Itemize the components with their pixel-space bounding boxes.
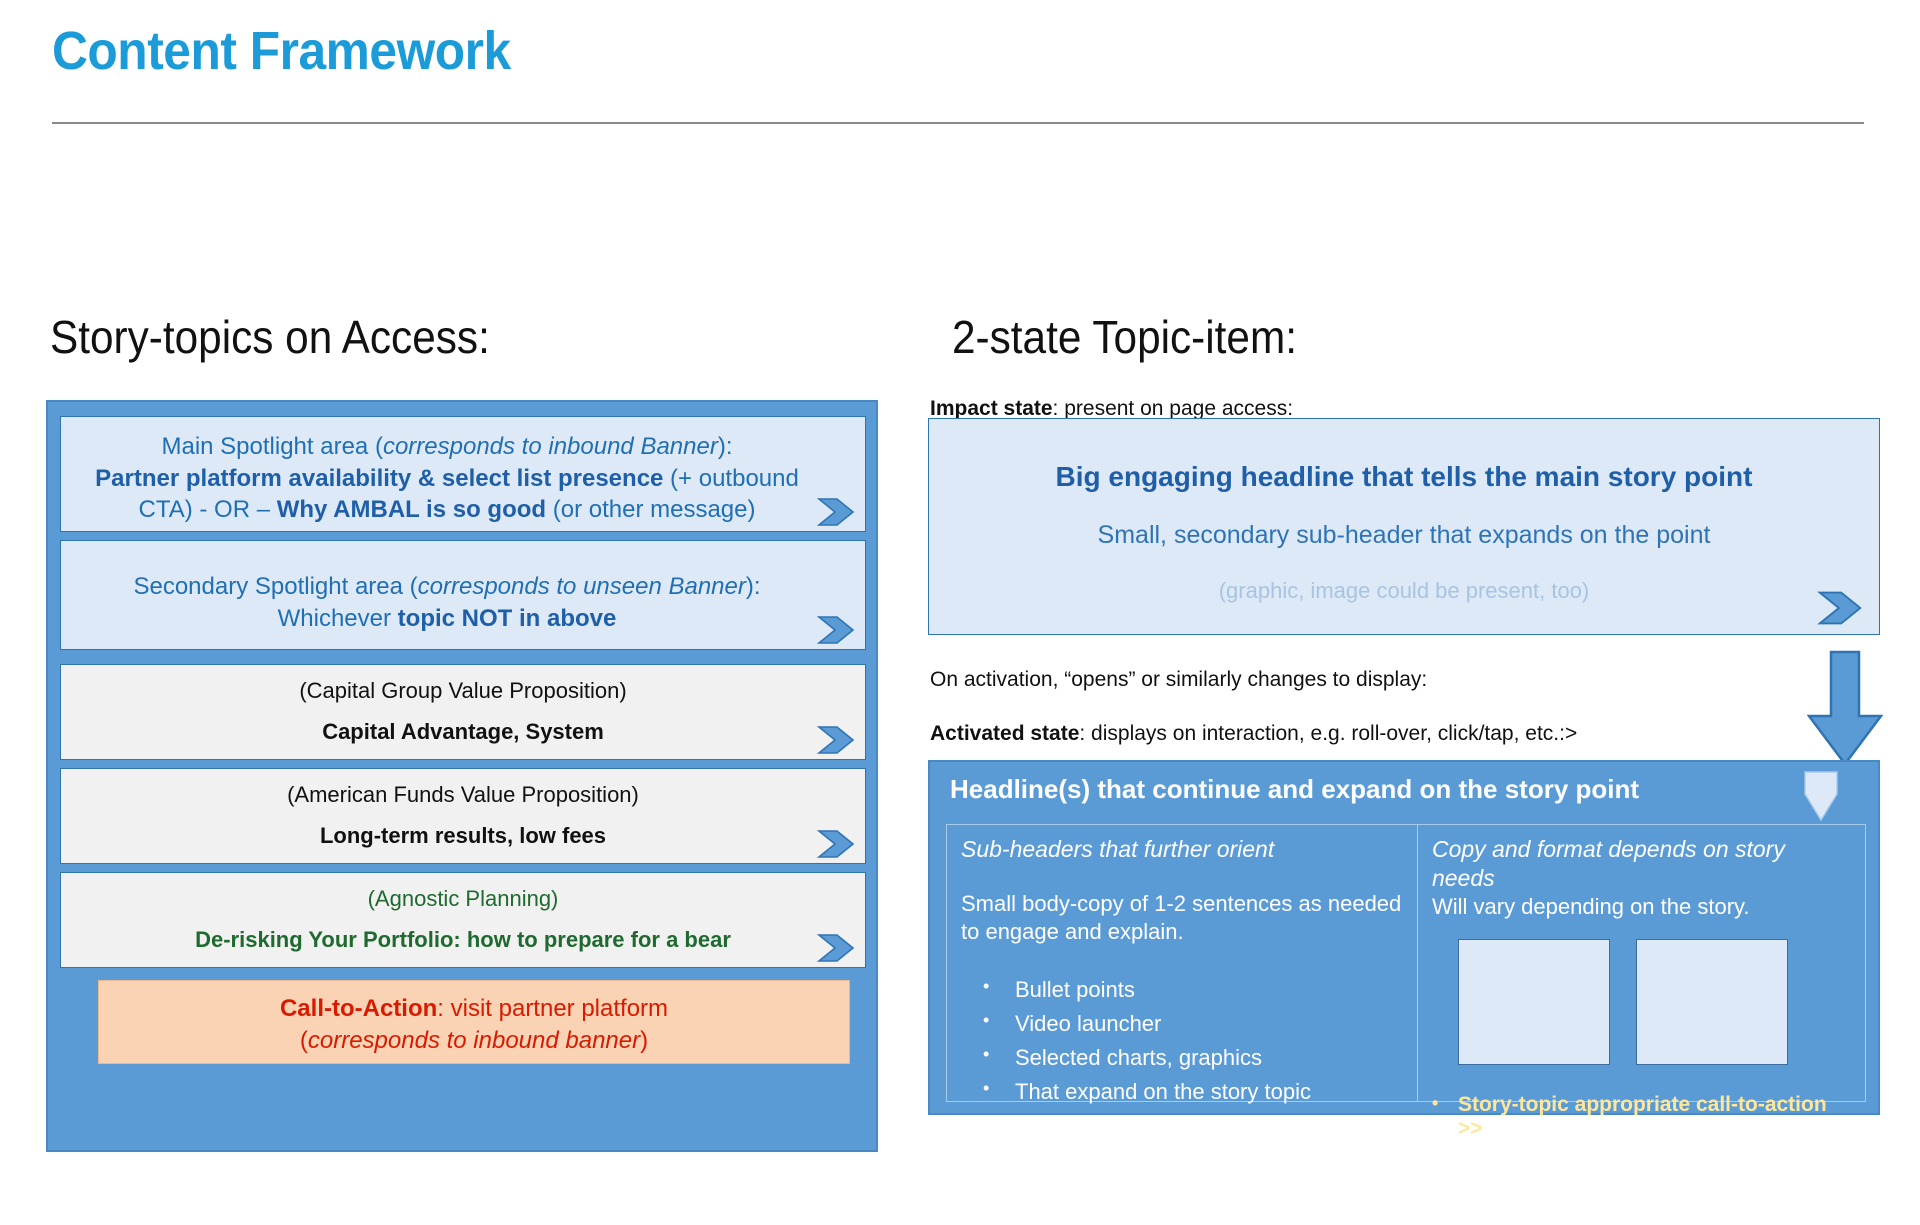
chevron-right-icon[interactable]	[815, 497, 857, 527]
impact-headline: Big engaging headline that tells the mai…	[929, 461, 1879, 493]
main-spotlight-line2-bold: Partner platform availability & select l…	[95, 465, 663, 492]
story-topics-container: Main Spotlight area (corresponds to inbo…	[46, 400, 878, 1152]
impact-state-label-bold: Impact state	[930, 397, 1053, 420]
main-spotlight-line2-plain: (+ outbound	[663, 465, 798, 492]
call-to-action-box[interactable]: Call-to-Action: visit partner platform (…	[98, 980, 850, 1064]
activated-columns: Sub-headers that further orient Small bo…	[946, 824, 1866, 1102]
left-column-heading: Story-topics on Access:	[50, 310, 490, 364]
activated-call-to-action[interactable]: Story-topic appropriate call-to-action >…	[1432, 1093, 1851, 1141]
main-spotlight-line3-a: CTA) - OR –	[139, 496, 277, 523]
main-spotlight-line3-bold: Why AMBAL is so good	[277, 496, 546, 523]
list-item: Bullet points	[961, 973, 1403, 1007]
impact-graphic-note: (graphic, image could be present, too)	[929, 578, 1879, 604]
secondary-spotlight-line-1: Secondary Spotlight area (corresponds to…	[75, 571, 819, 603]
main-spotlight-line-2: Partner platform availability & select l…	[75, 463, 819, 495]
list-item: That expand on the story topic	[961, 1075, 1403, 1109]
main-spotlight-line-1: Main Spotlight area (corresponds to inbo…	[75, 431, 819, 463]
value-prop-title: De-risking Your Portfolio: how to prepar…	[61, 927, 865, 953]
activated-right-italic-header: Copy and format depends on story needs	[1432, 835, 1851, 893]
activated-state-label: Activated state: displays on interaction…	[930, 722, 1577, 746]
chevron-right-icon[interactable]	[815, 615, 857, 645]
activated-bullet-list: Bullet points Video launcher Selected ch…	[961, 973, 1403, 1109]
main-spotlight-line3-b: (or other message)	[546, 496, 755, 523]
cta-label-bold: Call-to-Action	[280, 995, 437, 1022]
impact-subheader: Small, secondary sub-header that expands…	[929, 521, 1879, 550]
main-spotlight-line-3: CTA) - OR – Why AMBAL is so good (or oth…	[75, 494, 819, 526]
impact-state-panel[interactable]: Big engaging headline that tells the mai…	[928, 418, 1880, 635]
chevron-right-icon[interactable]	[815, 725, 857, 755]
cta-italic: corresponds to inbound banner	[308, 1027, 640, 1054]
title-divider	[52, 122, 1864, 124]
activated-right-column: Copy and format depends on story needs W…	[1418, 825, 1865, 1101]
list-item: Video launcher	[961, 1007, 1403, 1041]
activated-left-italic-header: Sub-headers that further orient	[961, 835, 1403, 864]
transition-note: On activation, “opens” or similarly chan…	[930, 668, 1427, 692]
main-spotlight-line1-italic: corresponds to inbound Banner	[383, 433, 718, 460]
secondary-spotlight-line1-a: Secondary Spotlight area (	[133, 573, 417, 600]
cta-label-plain: : visit partner platform	[437, 995, 668, 1022]
thumbnail-row	[1432, 939, 1851, 1065]
story-topics-inner: Main Spotlight area (corresponds to inbo…	[60, 416, 866, 1064]
value-prop-box-agnostic-planning[interactable]: (Agnostic Planning) De-risking Your Port…	[60, 872, 866, 968]
activated-right-body: Will vary depending on the story.	[1432, 893, 1851, 922]
arrow-down-icon	[1807, 650, 1883, 768]
activated-left-column: Sub-headers that further orient Small bo…	[947, 825, 1418, 1101]
chevron-right-icon[interactable]	[815, 933, 857, 963]
list-item: Selected charts, graphics	[961, 1041, 1403, 1075]
secondary-spotlight-line2-bold: topic NOT in above	[398, 605, 617, 632]
value-prop-subtitle: (American Funds Value Proposition)	[61, 781, 865, 809]
value-prop-box-american-funds[interactable]: (American Funds Value Proposition) Long-…	[60, 768, 866, 864]
secondary-spotlight-line1-italic: corresponds to unseen Banner	[418, 573, 746, 600]
value-prop-subtitle: (Agnostic Planning)	[61, 885, 865, 913]
activated-state-panel[interactable]: Headline(s) that continue and expand on …	[928, 760, 1880, 1115]
secondary-spotlight-line-2: Whichever topic NOT in above	[75, 603, 819, 635]
main-spotlight-line1-a: Main Spotlight area (	[161, 433, 382, 460]
cta-paren-close: )	[640, 1027, 648, 1054]
value-prop-title: Long-term results, low fees	[61, 823, 865, 849]
cta-paren-open: (	[300, 1027, 308, 1054]
activated-headline: Headline(s) that continue and expand on …	[930, 762, 1878, 805]
chevron-right-icon[interactable]	[1815, 590, 1865, 626]
chevron-right-icon[interactable]	[815, 829, 857, 859]
activated-left-body: Small body-copy of 1-2 sentences as need…	[961, 890, 1403, 947]
secondary-spotlight-line2-plain: Whichever	[278, 605, 398, 632]
main-spotlight-line1-b: ):	[718, 433, 733, 460]
chevron-down-icon[interactable]	[1802, 770, 1840, 822]
secondary-spotlight-line1-b: ):	[746, 573, 761, 600]
main-spotlight-box[interactable]: Main Spotlight area (corresponds to inbo…	[60, 416, 866, 532]
value-prop-subtitle: (Capital Group Value Proposition)	[61, 677, 865, 705]
value-prop-title: Capital Advantage, System	[61, 719, 865, 745]
cta-line-1: Call-to-Action: visit partner platform	[99, 993, 849, 1025]
value-prop-box-capital-group[interactable]: (Capital Group Value Proposition) Capita…	[60, 664, 866, 760]
activated-state-label-bold: Activated state	[930, 722, 1079, 745]
slide-canvas: Content Framework Story-topics on Access…	[0, 0, 1920, 1225]
cta-line-2: (corresponds to inbound banner)	[99, 1025, 849, 1057]
thumbnail-placeholder[interactable]	[1636, 939, 1788, 1065]
activated-state-label-plain: : displays on interaction, e.g. roll-ove…	[1079, 722, 1577, 745]
impact-state-label-plain: : present on page access:	[1053, 397, 1294, 420]
right-column-heading: 2-state Topic-item:	[952, 310, 1297, 364]
page-title: Content Framework	[52, 20, 511, 82]
thumbnail-placeholder[interactable]	[1458, 939, 1610, 1065]
secondary-spotlight-box[interactable]: Secondary Spotlight area (corresponds to…	[60, 540, 866, 650]
